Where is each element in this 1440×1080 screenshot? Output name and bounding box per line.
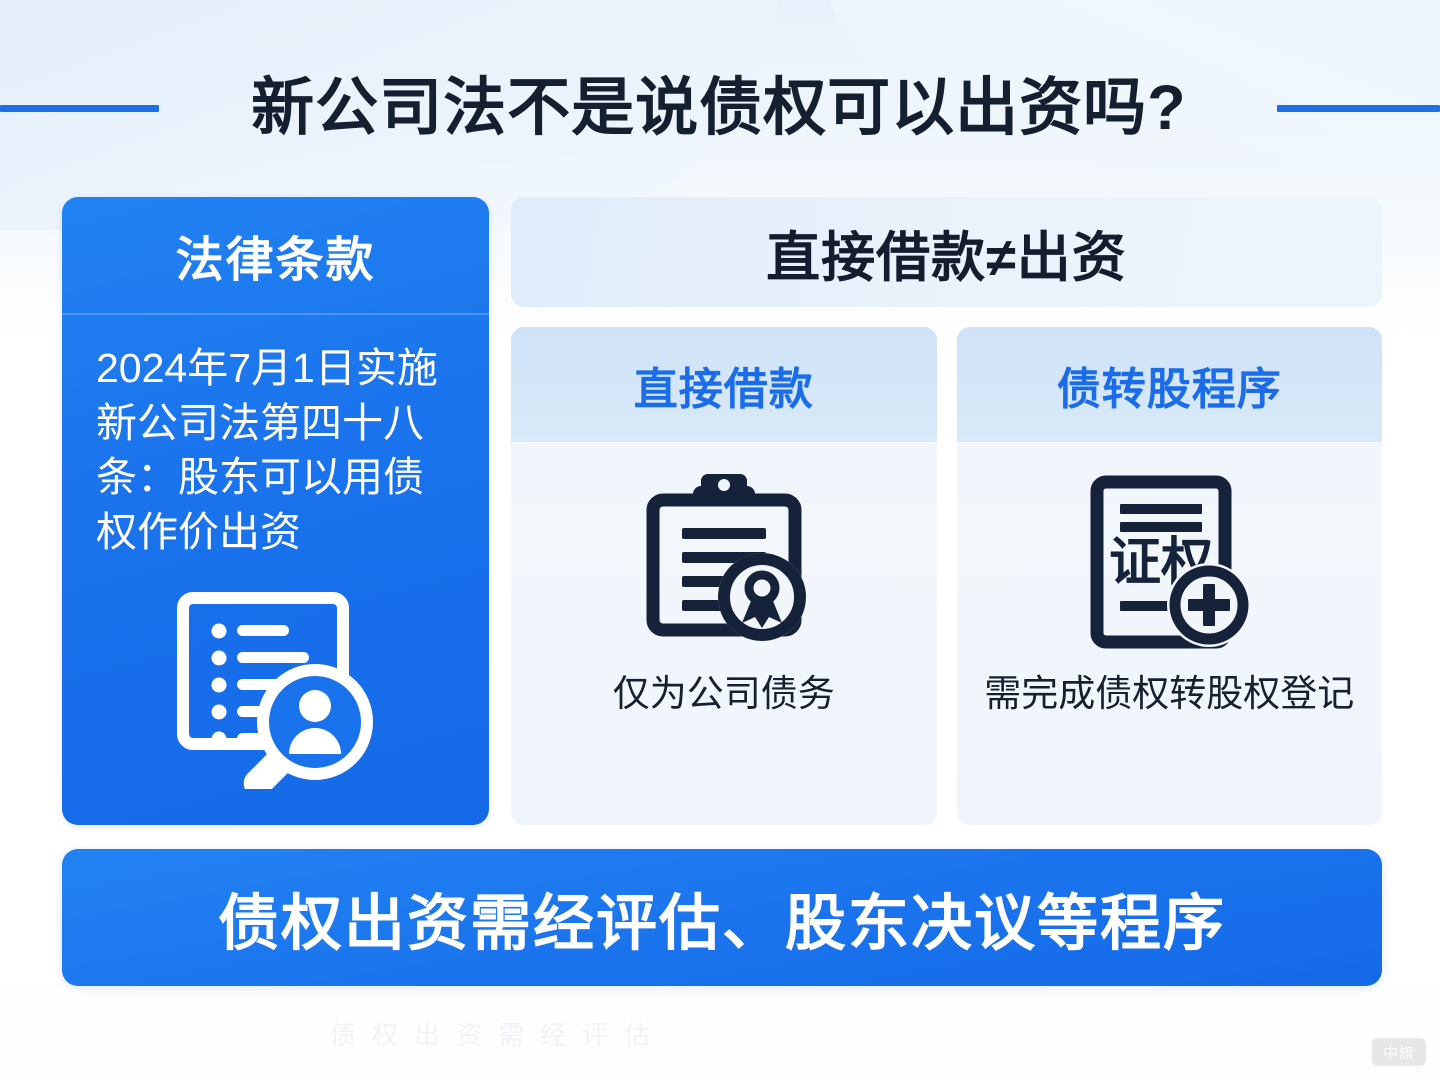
card-debt-to-equity-header: 债转股程序 <box>957 327 1383 442</box>
clipboard-badge-icon <box>629 462 819 662</box>
page-title: 新公司法不是说债权可以出资吗? <box>251 77 1186 140</box>
card-direct-loan-title: 直接借款 <box>634 353 814 417</box>
card-direct-loan-header: 直接借款 <box>511 327 937 442</box>
card-direct-loan-body: 仅为公司债务 <box>511 442 937 825</box>
card-debt-to-equity: 债转股程序 证权 <box>957 327 1383 825</box>
page-header: 新公司法不是说债权可以出资吗? <box>0 58 1440 158</box>
comparison-banner: 直接借款≠出资 <box>511 197 1382 307</box>
comparison-cards-row: 直接借款 <box>511 327 1382 825</box>
title-rule-right <box>1277 105 1440 112</box>
law-clause-card-title: 法律条款 <box>62 197 489 315</box>
law-clause-card: 法律条款 2024年7月1日实施新公司法第四十八条：股东可以用债权作价出资 <box>62 197 489 825</box>
document-search-person-icon <box>96 559 455 825</box>
certificate-plus-icon: 证权 <box>1082 462 1257 662</box>
card-direct-loan: 直接借款 <box>511 327 937 825</box>
ghost-text: 债权出资需经评估 <box>330 1015 666 1052</box>
card-debt-to-equity-title: 债转股程序 <box>1057 353 1282 417</box>
title-rule-left <box>0 105 159 112</box>
conclusion-banner-text: 债权出资需经评估、股东决议等程序 <box>218 873 1226 962</box>
card-direct-loan-caption: 仅为公司债务 <box>597 670 851 719</box>
card-debt-to-equity-body: 证权 需完成债权转股权登记 <box>957 442 1383 825</box>
law-clause-card-body: 2024年7月1日实施新公司法第四十八条：股东可以用债权作价出资 <box>62 315 489 825</box>
comparison-banner-text: 直接借款≠出资 <box>766 213 1127 292</box>
law-clause-card-text: 2024年7月1日实施新公司法第四十八条：股东可以用债权作价出资 <box>96 341 455 559</box>
right-column: 直接借款≠出资 直接借款 <box>511 197 1382 825</box>
watermark-text: 中旗 <box>1383 1042 1415 1063</box>
card-debt-to-equity-caption: 需完成债权转股权登记 <box>968 670 1370 719</box>
watermark-badge: 中旗 <box>1372 1038 1426 1066</box>
main-content: 法律条款 2024年7月1日实施新公司法第四十八条：股东可以用债权作价出资 <box>62 197 1382 825</box>
conclusion-banner: 债权出资需经评估、股东决议等程序 <box>62 849 1382 986</box>
